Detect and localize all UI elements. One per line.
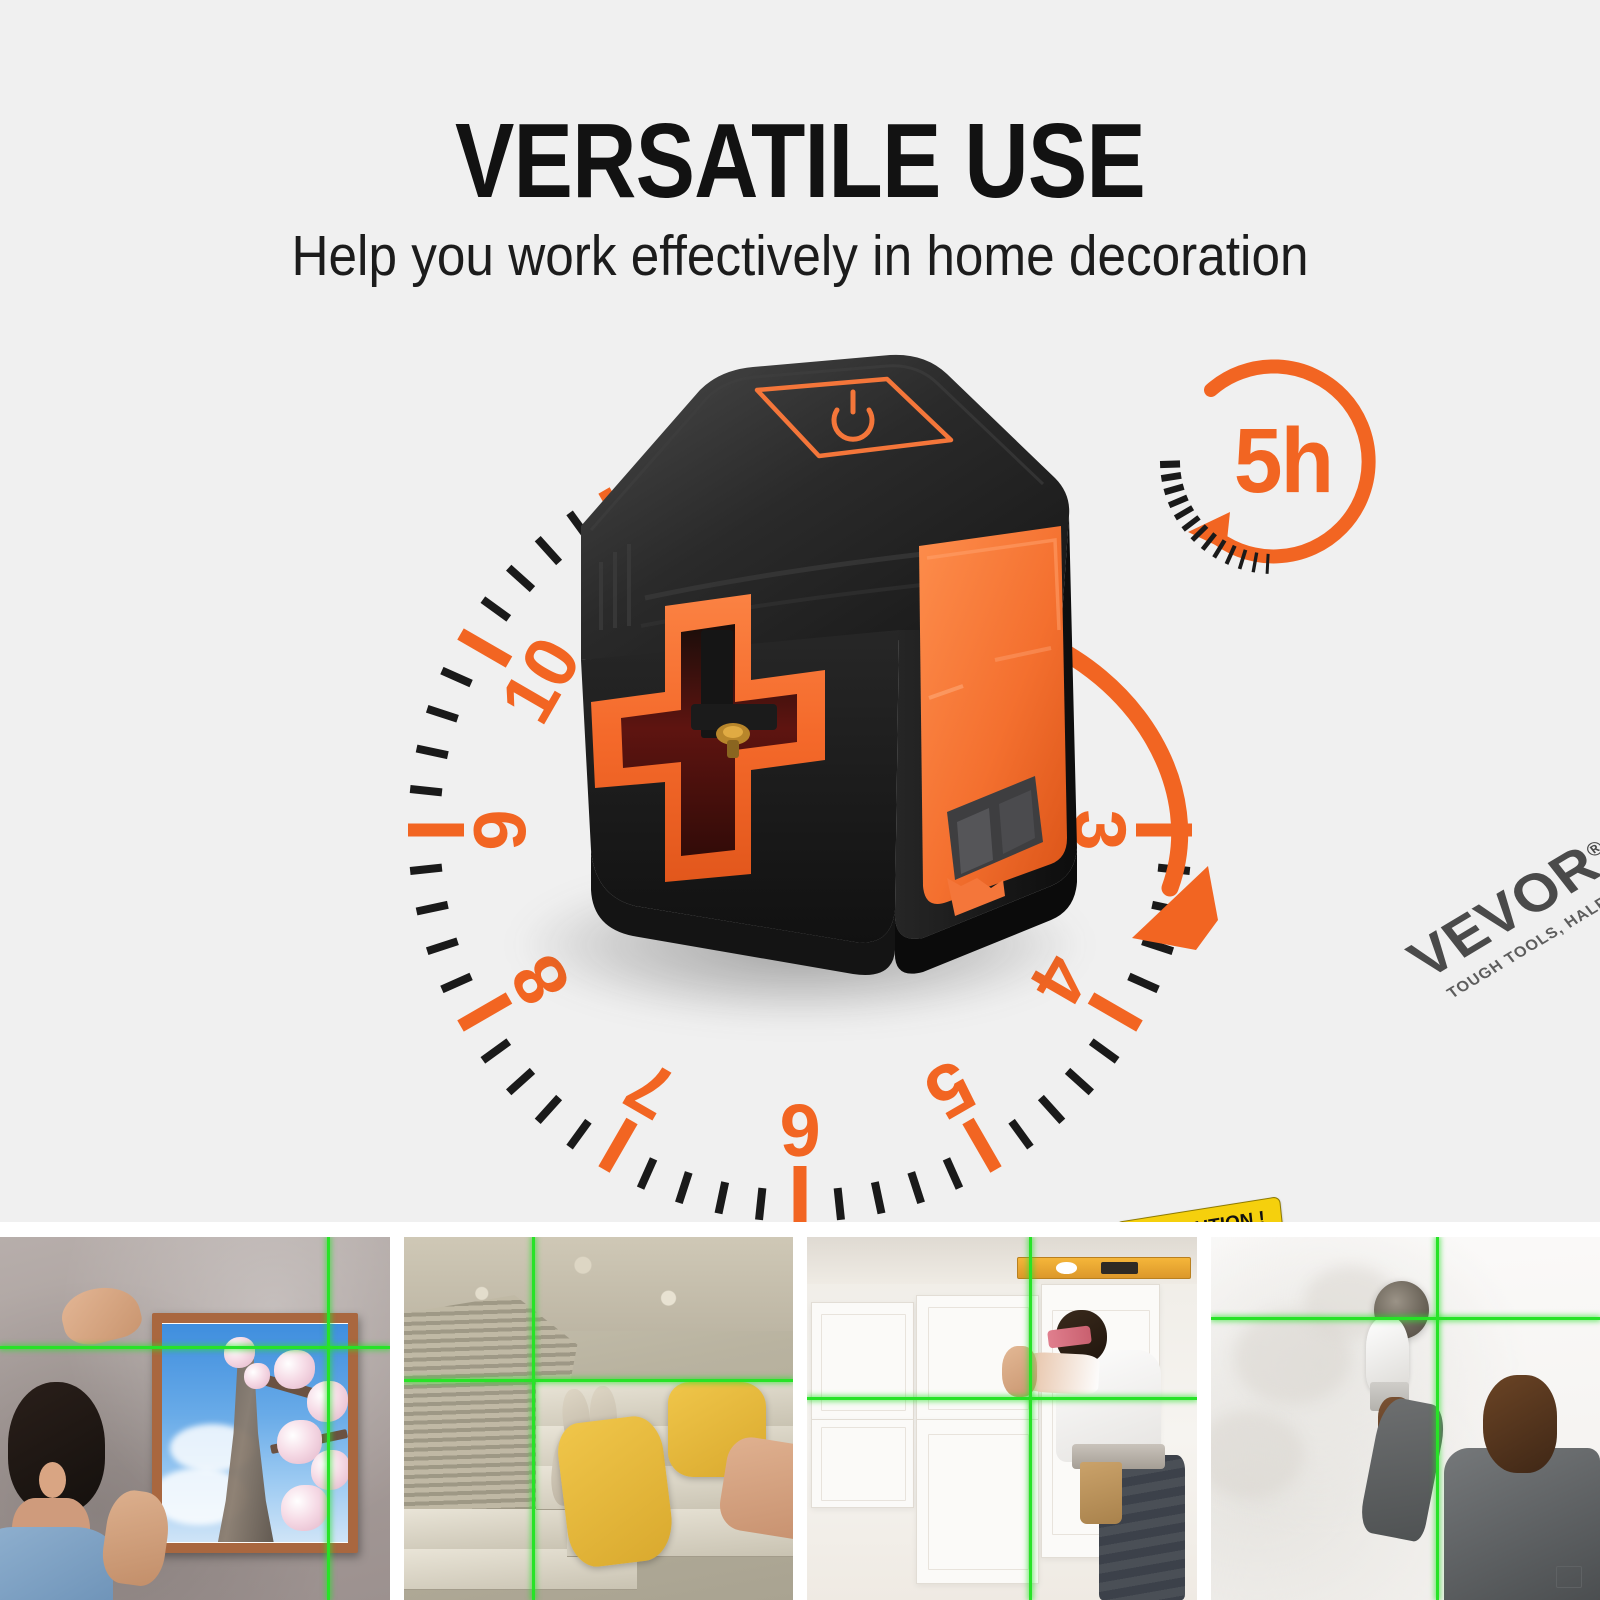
photo-laying-stone-tile bbox=[404, 1237, 794, 1600]
dial-minor-tick bbox=[875, 1182, 882, 1213]
dial-minor-tick bbox=[759, 1188, 762, 1220]
tool-pouch bbox=[1080, 1462, 1123, 1524]
person-shirt bbox=[0, 1527, 113, 1600]
dial-minor-tick bbox=[911, 1172, 921, 1202]
dial-minor-tick bbox=[1041, 1098, 1062, 1122]
dial-minor-tick bbox=[1091, 1042, 1117, 1061]
dial-minor-tick bbox=[427, 709, 457, 719]
worker-head bbox=[1483, 1375, 1557, 1473]
laser-line-vertical bbox=[1436, 1237, 1439, 1600]
page-title: VERSATILE USE bbox=[128, 108, 1472, 214]
laser-line-vertical bbox=[532, 1237, 535, 1600]
dial-major-tick bbox=[1091, 998, 1139, 1026]
dial-minor-tick bbox=[410, 868, 442, 871]
battery-runtime-label: 5h bbox=[1164, 336, 1402, 586]
eiffel-tower-artwork bbox=[162, 1324, 348, 1542]
product-feature-page: VERSATILE USE Help you work effectively … bbox=[0, 0, 1600, 1600]
photo-installing-ceiling-fixture bbox=[1211, 1237, 1600, 1600]
brand-logo: VEVOR® TOUGH TOOLS, HALF PRICE bbox=[1400, 846, 1600, 1080]
dial-minor-tick bbox=[417, 905, 448, 912]
dial-minor-tick bbox=[946, 1159, 959, 1188]
photo-hanging-picture-frame bbox=[0, 1237, 390, 1600]
dial-minor-tick bbox=[1012, 1121, 1031, 1147]
dial-numeral: 5 bbox=[911, 1044, 988, 1136]
laser-line-horizontal bbox=[0, 1346, 390, 1349]
dial-major-tick bbox=[461, 998, 509, 1026]
spirit-level bbox=[1017, 1257, 1190, 1279]
dial-minor-tick bbox=[410, 789, 442, 792]
laser-line-horizontal bbox=[1211, 1317, 1600, 1320]
dial-major-tick bbox=[604, 1121, 632, 1169]
laser-line-vertical bbox=[1029, 1237, 1032, 1600]
dial-minor-tick bbox=[442, 976, 471, 989]
laser-line-horizontal bbox=[404, 1379, 794, 1382]
dial-minor-tick bbox=[538, 1098, 559, 1122]
dial-minor-tick bbox=[570, 1121, 589, 1147]
dial-minor-tick bbox=[1068, 1071, 1092, 1092]
page-subtitle: Help you work effectively in home decora… bbox=[80, 228, 1520, 285]
dial-minor-tick bbox=[427, 941, 457, 951]
cabinet-lower-mid bbox=[916, 1419, 1039, 1584]
dial-minor-tick bbox=[838, 1188, 841, 1220]
dial-minor-tick bbox=[509, 1071, 533, 1092]
shirt-pocket bbox=[1556, 1566, 1581, 1589]
dial-minor-tick bbox=[679, 1172, 689, 1202]
dial-minor-tick bbox=[641, 1159, 654, 1188]
laser-line-vertical bbox=[327, 1237, 330, 1600]
dial-minor-tick bbox=[442, 671, 471, 684]
brand-name: VEVOR® bbox=[1398, 845, 1595, 987]
hero-section: VERSATILE USE Help you work effectively … bbox=[0, 0, 1600, 1222]
dial-minor-tick bbox=[483, 1042, 509, 1061]
dial-minor-tick bbox=[417, 748, 448, 755]
cross-line-laser-level: VEVOR® TOUGH TOOLS, HALF PRICE ✸ CAUTION… bbox=[495, 330, 1105, 990]
registered-mark: ® bbox=[1582, 836, 1600, 862]
laser-line-horizontal bbox=[807, 1397, 1197, 1400]
dial-numeral: 6 bbox=[779, 1089, 820, 1172]
brand-tagline: TOUGH TOOLS, HALF PRICE bbox=[1444, 896, 1600, 1003]
work-glove-left bbox=[555, 1413, 677, 1570]
cabinet-lower-left bbox=[811, 1419, 914, 1508]
dial-numeral: 7 bbox=[611, 1044, 688, 1136]
photo-installing-cabinets bbox=[807, 1237, 1197, 1600]
cabinet-upper-left bbox=[811, 1302, 914, 1420]
application-photo-strip bbox=[0, 1237, 1600, 1600]
dial-minor-tick bbox=[718, 1182, 725, 1213]
dial-major-tick bbox=[968, 1121, 996, 1169]
battery-runtime-badge: 5h bbox=[1148, 336, 1398, 586]
